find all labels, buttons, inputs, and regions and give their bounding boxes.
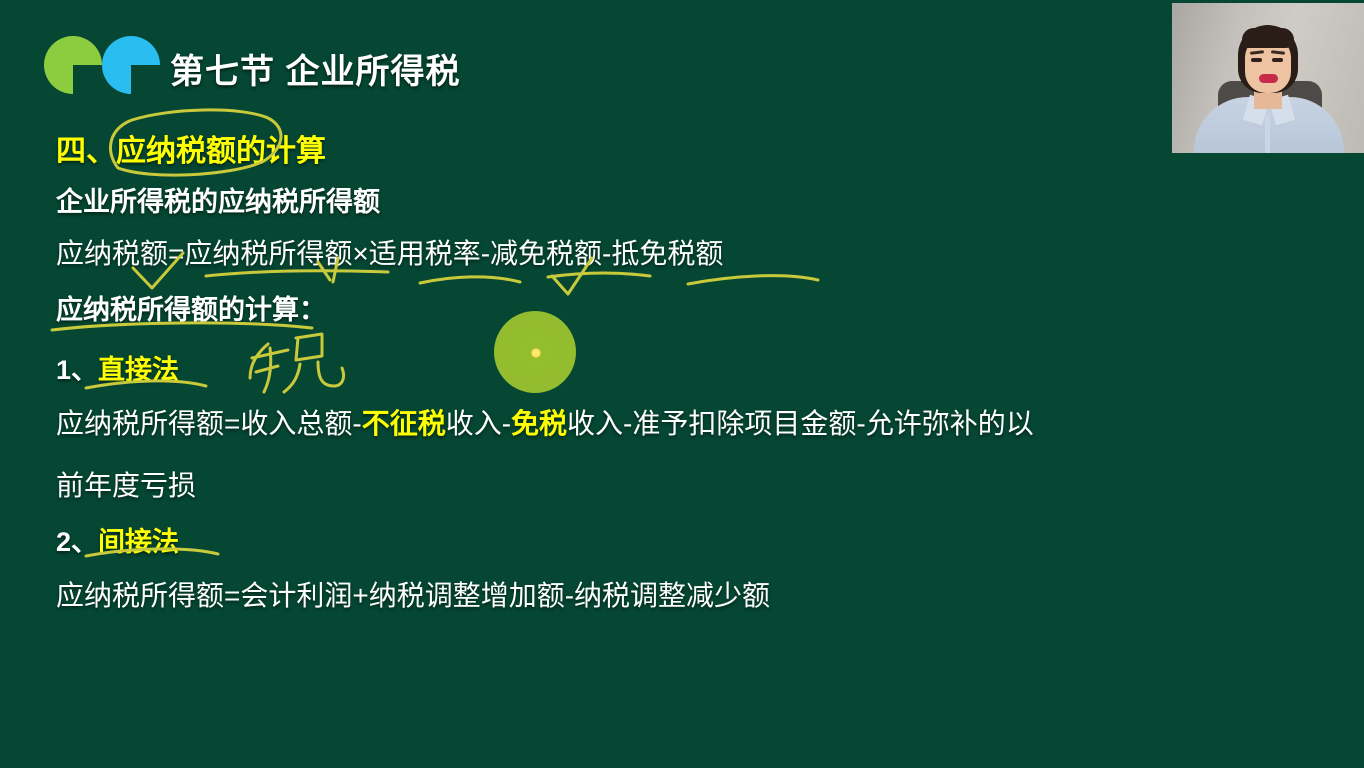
presenter-fringe — [1242, 28, 1294, 48]
calculation-label: 应纳税所得额的计算： — [56, 288, 326, 327]
method-2-row: 2、间接法 — [56, 520, 179, 559]
slide-viewer: 第七节 企业所得税 四、应纳税额的计算 企业所得税的应纳税所得额 应纳税额=应纳… — [0, 0, 1364, 768]
method-2-name: 间接法 — [98, 527, 179, 557]
formula-part-5: 收入-准予扣除项目金额-允许弥补的以 — [567, 408, 1034, 439]
double-quote-logo — [44, 36, 160, 94]
method-1-number: 1、 — [56, 355, 98, 385]
logo-svg — [44, 36, 160, 94]
section-heading: 四、应纳税额的计算 — [56, 126, 326, 170]
formula-part-1: 应纳税所得额=收入总额- — [56, 408, 362, 439]
formula-direct-method: 应纳税所得额=收入总额-不征税收入-免税收入-准予扣除项目金额-允许弥补的以 — [56, 402, 1034, 442]
eye-left — [1251, 58, 1262, 62]
formula-indirect-method: 应纳税所得额=会计利润+纳税调整增加额-纳税调整减少额 — [56, 574, 770, 614]
slide-content: 四、应纳税额的计算 企业所得税的应纳税所得额 应纳税额=应纳税所得额×适用税率-… — [0, 112, 1364, 768]
page-title: 第七节 企业所得税 — [170, 44, 460, 93]
formula-highlight-tax-exempt: 免税 — [511, 408, 567, 439]
formula-highlight-non-taxable: 不征税 — [362, 408, 446, 439]
slide-header: 第七节 企业所得税 — [0, 0, 1364, 112]
formula-direct-method-wrap: 前年度亏损 — [56, 464, 196, 504]
cursor-dot — [531, 348, 541, 358]
method-1-name: 直接法 — [98, 355, 179, 385]
formula-part-3: 收入- — [446, 408, 511, 439]
section-subheading: 企业所得税的应纳税所得额 — [56, 180, 380, 219]
formula-taxable-amount: 应纳税额=应纳税所得额×适用税率-减免税额-抵免税额 — [56, 232, 723, 272]
eye-right — [1272, 58, 1283, 62]
method-2-number: 2、 — [56, 527, 98, 557]
method-1-row: 1、直接法 — [56, 348, 179, 387]
presenter-lips — [1259, 74, 1278, 83]
